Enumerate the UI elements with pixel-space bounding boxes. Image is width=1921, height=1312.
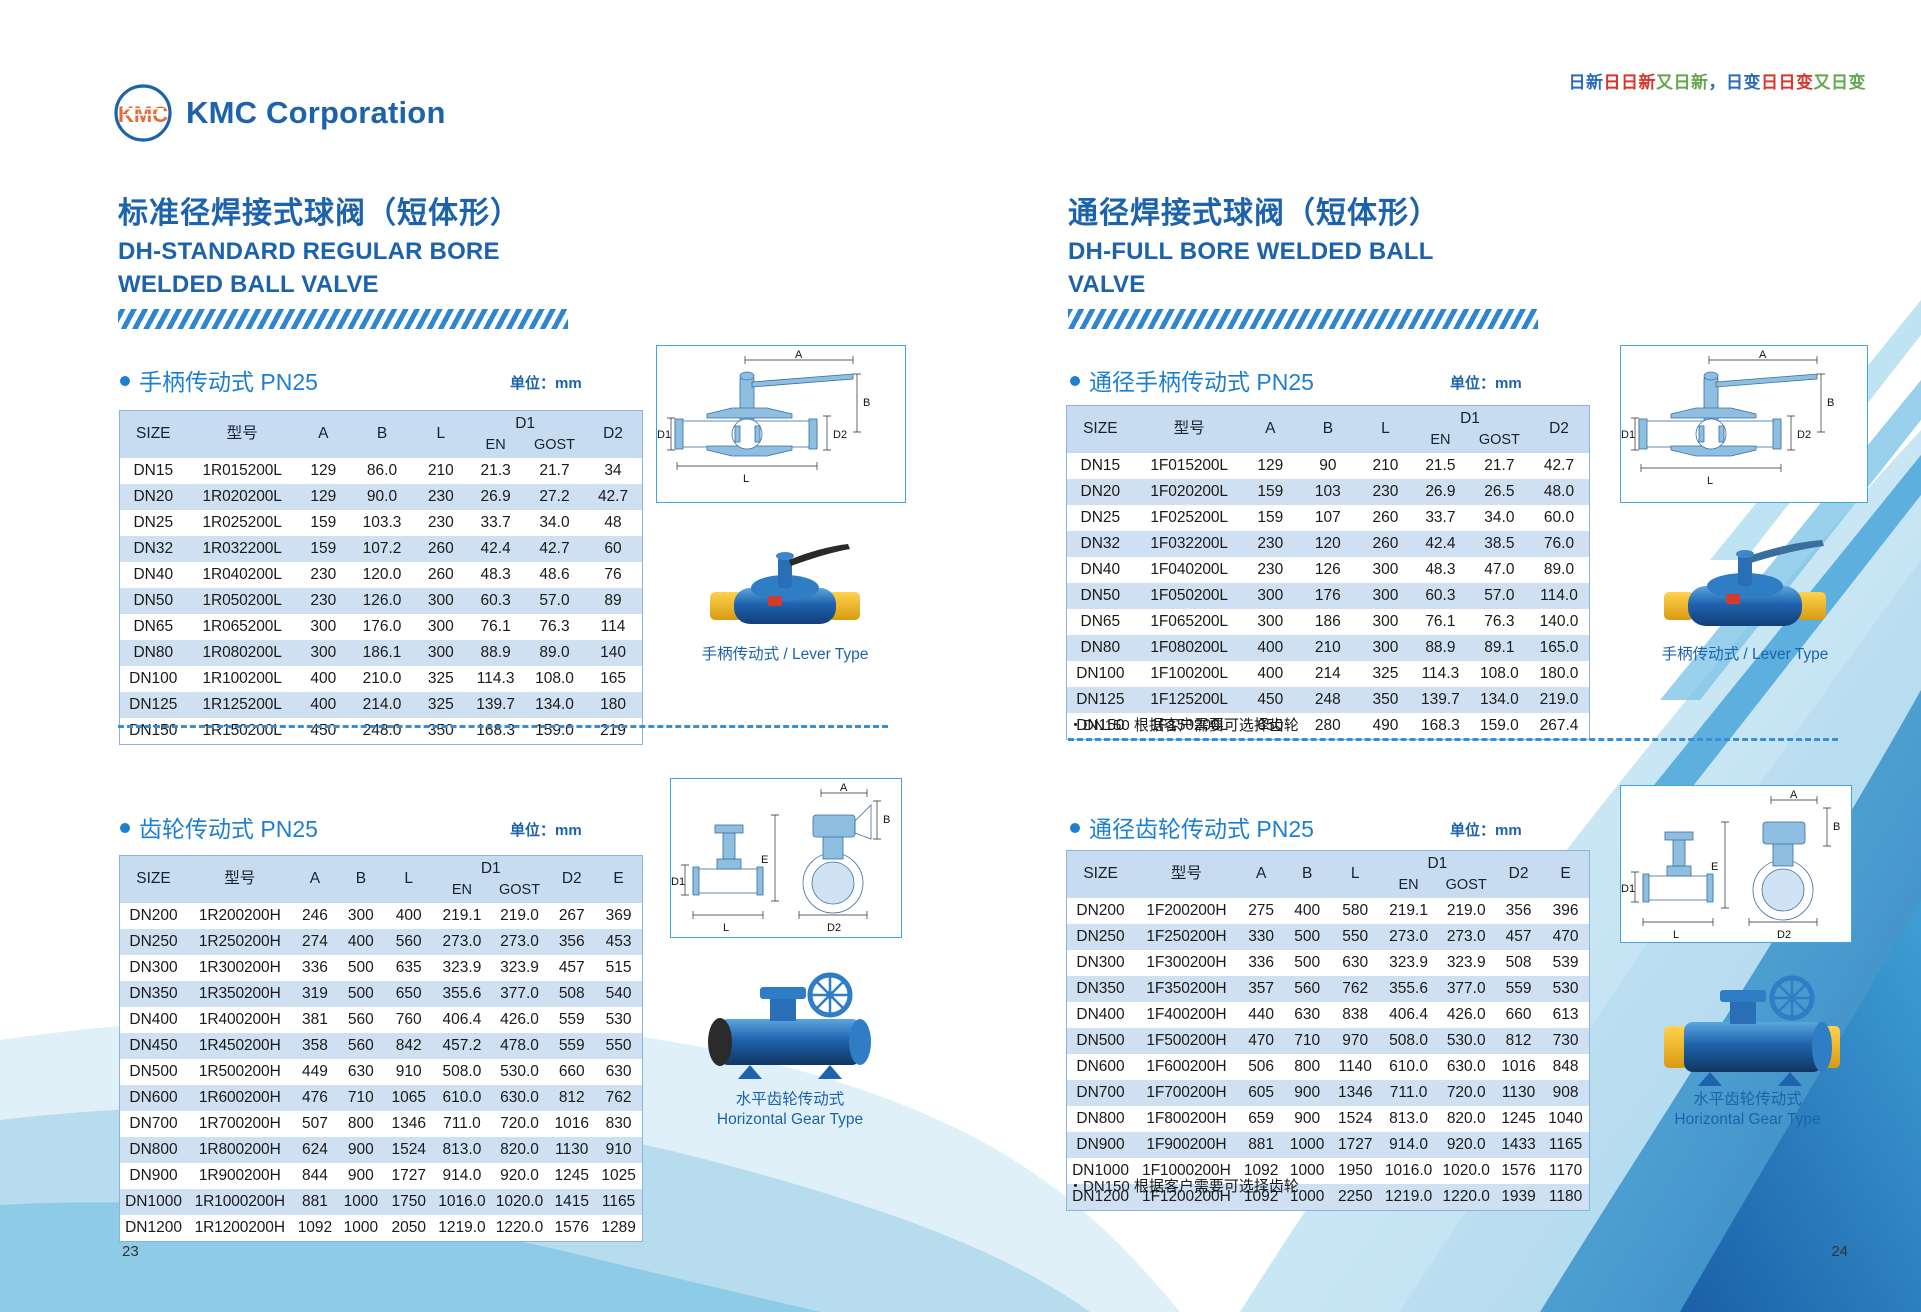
table-row: DN3001F300200H336500630323.9323.9508539 — [1067, 950, 1590, 976]
horizontal-gear-photo-caption: 水平齿轮传动式 Horizontal Gear Type — [660, 1090, 920, 1130]
cell-value: 406.4 — [433, 1007, 491, 1033]
left-heading-en-line1: DH-STANDARD REGULAR BORE — [118, 238, 568, 266]
cell-model: 1F600200H — [1134, 1054, 1239, 1080]
cell-value: 630.0 — [491, 1085, 549, 1111]
cell-value: 914.0 — [433, 1163, 491, 1189]
cell-value: 86.0 — [349, 458, 415, 484]
cell-value: 350 — [415, 718, 466, 745]
cell-value: 114.3 — [466, 666, 525, 692]
cell-size: DN20 — [120, 484, 187, 510]
right-section1-title: 通径手柄传动式 PN25 — [1070, 363, 1314, 397]
cell-value: 214.0 — [349, 692, 415, 718]
cell-value: 1040 — [1542, 1106, 1589, 1132]
cell-value: 330 — [1239, 924, 1284, 950]
cell-value: 630 — [1284, 1002, 1331, 1028]
cell-value: 38.5 — [1470, 531, 1529, 557]
svg-text:D1: D1 — [1621, 883, 1635, 895]
cell-size: DN40 — [1067, 557, 1134, 583]
table-row: DN3501R350200H319500650355.6377.0508540 — [120, 981, 643, 1007]
cell-value: 426.0 — [1437, 1002, 1495, 1028]
cell-size: DN300 — [120, 955, 188, 981]
cell-value: 21.7 — [525, 458, 584, 484]
table-row: DN201R020200L12990.023026.927.242.7 — [120, 484, 643, 510]
cell-value: 1433 — [1495, 1132, 1542, 1158]
cell-model: 1R100200L — [187, 666, 298, 692]
cell-value: 1016.0 — [433, 1189, 491, 1215]
cell-value: 400 — [337, 929, 384, 955]
left-section2-title: 齿轮传动式 PN25 — [120, 810, 318, 844]
cell-value: 356 — [1495, 898, 1542, 924]
cell-value: 508.0 — [433, 1059, 491, 1085]
cell-value: 248 — [1296, 687, 1360, 713]
cell-value: 21.7 — [1470, 453, 1529, 479]
cell-model: 1F125200L — [1134, 687, 1245, 713]
cell-value: 1020.0 — [491, 1189, 549, 1215]
left-heading-cn: 标准径焊接式球阀（短体形） — [118, 196, 568, 233]
cell-size: DN800 — [120, 1137, 188, 1163]
svg-text:B: B — [883, 814, 890, 826]
cell-value: 559 — [1495, 976, 1542, 1002]
cell-value: 300 — [1360, 557, 1411, 583]
svg-text:B: B — [863, 397, 870, 409]
cell-value: 530 — [1542, 976, 1589, 1002]
cell-model: 1R040200L — [187, 562, 298, 588]
cell-value: 134.0 — [525, 692, 584, 718]
cell-size: DN700 — [1067, 1080, 1135, 1106]
cell-size: DN15 — [1067, 453, 1134, 479]
cell-value: 630 — [337, 1059, 384, 1085]
cell-value: 60 — [584, 536, 642, 562]
cell-value: 1245 — [548, 1163, 595, 1189]
svg-text:E: E — [761, 854, 768, 866]
cell-value: 355.6 — [433, 981, 491, 1007]
cell-value: 139.7 — [466, 692, 525, 718]
cell-value: 357 — [1239, 976, 1284, 1002]
cell-model: 1R450200H — [187, 1033, 292, 1059]
cell-value: 400 — [298, 666, 349, 692]
cell-value: 1092 — [292, 1215, 337, 1242]
cell-value: 605 — [1239, 1080, 1284, 1106]
cell-value: 260 — [1360, 531, 1411, 557]
table-row: DN201F020200L15910323026.926.548.0 — [1067, 479, 1590, 505]
cell-value: 323.9 — [433, 955, 491, 981]
cell-value: 710 — [337, 1085, 384, 1111]
svg-text:D2: D2 — [827, 922, 841, 934]
col-header-size: SIZE — [1067, 406, 1134, 453]
cell-model: 1F500200H — [1134, 1028, 1239, 1054]
cell-value: 180.0 — [1529, 661, 1590, 687]
cell-value: 530 — [595, 1007, 642, 1033]
cell-value: 476 — [292, 1085, 337, 1111]
cell-value: 1950 — [1331, 1158, 1380, 1184]
cell-value: 539 — [1542, 950, 1589, 976]
right-page-divider — [1068, 738, 1838, 741]
cell-value: 470 — [1239, 1028, 1284, 1054]
cell-model: 1F300200H — [1134, 950, 1239, 976]
cell-value: 1016 — [548, 1111, 595, 1137]
cell-value: 300 — [337, 903, 384, 929]
table-row: DN5001F500200H470710970508.0530.0812730 — [1067, 1028, 1590, 1054]
col-header-size: SIZE — [120, 856, 188, 903]
cell-value: 180 — [584, 692, 642, 718]
cell-model: 1F015200L — [1134, 453, 1245, 479]
cell-model: 1R150200L — [187, 718, 298, 745]
col-header-d2: D2 — [1529, 406, 1590, 453]
cell-size: DN300 — [1067, 950, 1135, 976]
cell-model: 1R800200H — [187, 1137, 292, 1163]
cell-size: DN32 — [120, 536, 187, 562]
col-header-d2: D2 — [548, 856, 595, 903]
cell-value: 300 — [298, 640, 349, 666]
table-row: DN501F050200L30017630060.357.0114.0 — [1067, 583, 1590, 609]
cell-value: 42.7 — [525, 536, 584, 562]
cell-size: DN1000 — [120, 1189, 188, 1215]
cell-model: 1F400200H — [1134, 1002, 1239, 1028]
cell-value: 57.0 — [525, 588, 584, 614]
cell-value: 1346 — [1331, 1080, 1380, 1106]
col-header-a: A — [292, 856, 337, 903]
svg-text:A: A — [840, 782, 848, 794]
col-subheader-en: EN — [1411, 430, 1470, 453]
table-row: DN9001R900200H8449001727914.0920.0124510… — [120, 1163, 643, 1189]
cell-size: DN50 — [1067, 583, 1134, 609]
cell-value: 1016 — [1495, 1054, 1542, 1080]
cell-value: 813.0 — [433, 1137, 491, 1163]
right-section2-title: 通径齿轮传动式 PN25 — [1070, 810, 1314, 844]
cell-value: 659 — [1239, 1106, 1284, 1132]
cell-value: 108.0 — [525, 666, 584, 692]
left-heading-hatch-bar — [118, 309, 568, 329]
cell-value: 908 — [1542, 1080, 1589, 1106]
cell-value: 515 — [595, 955, 642, 981]
cell-value: 358 — [292, 1033, 337, 1059]
cell-value: 336 — [1239, 950, 1284, 976]
cell-value: 126.0 — [349, 588, 415, 614]
cell-value: 559 — [548, 1033, 595, 1059]
cell-value: 630 — [595, 1059, 642, 1085]
col-header-d1: D1 — [1380, 851, 1495, 876]
cell-value: 230 — [1360, 479, 1411, 505]
cell-value: 120 — [1296, 531, 1360, 557]
svg-text:B: B — [1833, 821, 1840, 833]
cell-value: 508.0 — [1380, 1028, 1438, 1054]
cell-value: 820.0 — [1437, 1106, 1495, 1132]
cell-model: 1R600200H — [187, 1085, 292, 1111]
left-section2-title-text: 齿轮传动式 PN25 — [139, 810, 318, 844]
cell-value: 219.0 — [491, 903, 549, 929]
cell-value: 396 — [1542, 898, 1589, 924]
cell-value: 560 — [337, 1007, 384, 1033]
cell-value: 369 — [595, 903, 642, 929]
cell-size: DN200 — [120, 903, 188, 929]
cell-value: 470 — [1542, 924, 1589, 950]
svg-text:L: L — [743, 473, 749, 485]
cell-value: 2050 — [384, 1215, 433, 1242]
cell-value: 355.6 — [1380, 976, 1438, 1002]
cell-value: 500 — [1284, 950, 1331, 976]
cell-size: DN350 — [120, 981, 188, 1007]
catalog-page: 日新日日新又日新，日变日日变又日变 KMC KMC Corporation 标准… — [0, 0, 1921, 1312]
right-page-number: 24 — [1831, 1243, 1848, 1260]
cell-value: 26.9 — [1411, 479, 1470, 505]
col-subheader-gost: GOST — [491, 880, 549, 903]
cell-model: 1F350200H — [1134, 976, 1239, 1002]
right-section2-note: ・DN150 根据客户需要可选择齿轮 — [1068, 1175, 1299, 1196]
left-section-heading: 标准径焊接式球阀（短体形） DH-STANDARD REGULAR BORE W… — [118, 196, 568, 329]
right-heading-en-line2: VALVE — [1068, 271, 1538, 299]
cell-value: 1016.0 — [1380, 1158, 1438, 1184]
col-header-a: A — [1245, 406, 1296, 453]
cell-value: 1130 — [548, 1137, 595, 1163]
left-heading-en-line2: WELDED BALL VALVE — [118, 271, 568, 299]
svg-text:D2: D2 — [833, 429, 847, 441]
cell-size: DN100 — [120, 666, 187, 692]
svg-text:B: B — [1827, 397, 1834, 409]
cell-value: 76.0 — [1529, 531, 1590, 557]
cell-value: 186 — [1296, 609, 1360, 635]
cell-value: 881 — [292, 1189, 337, 1215]
cell-value: 2250 — [1331, 1184, 1380, 1211]
cell-value: 356 — [548, 929, 595, 955]
cell-value: 89.0 — [1529, 557, 1590, 583]
table-row: DN321F032200L23012026042.438.576.0 — [1067, 531, 1590, 557]
col-header-l: L — [1360, 406, 1411, 453]
cell-value: 449 — [292, 1059, 337, 1085]
cell-value: 159 — [298, 536, 349, 562]
col-header-l: L — [415, 411, 466, 458]
table-row: DN6001F600200H5068001140610.0630.0101684… — [1067, 1054, 1590, 1080]
cell-size: DN250 — [120, 929, 188, 955]
cell-value: 300 — [1245, 609, 1296, 635]
cell-value: 129 — [1245, 453, 1296, 479]
table-row: DN1501R150200L450248.0350168.3159.0219 — [120, 718, 643, 745]
cell-value: 48.3 — [466, 562, 525, 588]
cell-value: 60.3 — [466, 588, 525, 614]
col-header-d2: D2 — [1495, 851, 1542, 898]
cell-size: DN20 — [1067, 479, 1134, 505]
cell-value: 450 — [298, 718, 349, 745]
cell-model: 1R125200L — [187, 692, 298, 718]
cell-value: 1170 — [1542, 1158, 1589, 1184]
table-row: DN2001F200200H275400580219.1219.0356396 — [1067, 898, 1590, 924]
cell-value: 377.0 — [1437, 976, 1495, 1002]
cell-value: 57.0 — [1470, 583, 1529, 609]
cell-value: 280 — [1296, 713, 1360, 740]
cell-model: 1F700200H — [1134, 1080, 1239, 1106]
cell-value: 610.0 — [1380, 1054, 1438, 1080]
cell-value: 800 — [337, 1111, 384, 1137]
col-subheader-en: EN — [433, 880, 491, 903]
right-heading-cn: 通径焊接式球阀（短体形） — [1068, 196, 1538, 233]
svg-text:D2: D2 — [1797, 429, 1811, 441]
cell-value: 1727 — [384, 1163, 433, 1189]
lever-type-photo-caption: 手柄传动式 / Lever Type — [660, 645, 910, 665]
cell-value: 710 — [1284, 1028, 1331, 1054]
cell-value: 1165 — [595, 1189, 642, 1215]
full-bore-lever-dimension-drawing: AB D2D1 L — [1620, 345, 1868, 503]
cell-value: 325 — [1360, 661, 1411, 687]
cell-value: 27.2 — [525, 484, 584, 510]
svg-text:L: L — [1707, 475, 1713, 487]
col-header-b: B — [337, 856, 384, 903]
col-header-d1: D1 — [433, 856, 548, 881]
cell-value: 168.3 — [1411, 713, 1470, 740]
cell-value: 300 — [1360, 635, 1411, 661]
cell-value: 559 — [548, 1007, 595, 1033]
right-section1-note: ・DN150 根据客户需要可选择齿轮 — [1068, 714, 1299, 735]
cell-value: 219.0 — [1437, 898, 1495, 924]
table-row: DN151R015200L12986.021021.321.734 — [120, 458, 643, 484]
cell-value: 114.3 — [1411, 661, 1470, 687]
cell-value: 33.7 — [1411, 505, 1470, 531]
horizontal-gear-caption-en: Horizontal Gear Type — [660, 1110, 920, 1130]
cell-value: 900 — [337, 1163, 384, 1189]
cell-value: 881 — [1239, 1132, 1284, 1158]
cell-size: DN450 — [120, 1033, 188, 1059]
cell-model: 1F032200L — [1134, 531, 1245, 557]
cell-size: DN125 — [120, 692, 187, 718]
cell-value: 478.0 — [491, 1033, 549, 1059]
table-row: DN4001F400200H440630838406.4426.0660613 — [1067, 1002, 1590, 1028]
cell-value: 1524 — [1331, 1106, 1380, 1132]
table-row: DN2501R250200H274400560273.0273.0356453 — [120, 929, 643, 955]
cell-value: 159 — [1245, 479, 1296, 505]
cell-value: 33.7 — [466, 510, 525, 536]
table-row: DN9001F900200H88110001727914.0920.014331… — [1067, 1132, 1590, 1158]
cell-value: 560 — [337, 1033, 384, 1059]
cell-value: 830 — [595, 1111, 642, 1137]
table-row: DN1251R125200L400214.0325139.7134.0180 — [120, 692, 643, 718]
cell-value: 1346 — [384, 1111, 433, 1137]
cell-value: 1020.0 — [1437, 1158, 1495, 1184]
table-row: DN801R080200L300186.130088.989.0140 — [120, 640, 643, 666]
cell-value: 507 — [292, 1111, 337, 1137]
cell-value: 1025 — [595, 1163, 642, 1189]
cell-size: DN40 — [120, 562, 187, 588]
cell-value: 230 — [1245, 557, 1296, 583]
cell-model: 1R700200H — [187, 1111, 292, 1137]
cell-size: DN15 — [120, 458, 187, 484]
table-row: DN1001R100200L400210.0325114.3108.0165 — [120, 666, 643, 692]
col-subheader-gost: GOST — [525, 435, 584, 458]
cell-value: 1140 — [1331, 1054, 1380, 1080]
cell-value: 508 — [548, 981, 595, 1007]
cell-model: 1R1200200H — [187, 1215, 292, 1242]
table-row: DN7001F700200H6059001346711.0720.0113090… — [1067, 1080, 1590, 1106]
cell-value: 214 — [1296, 661, 1360, 687]
cell-value: 26.5 — [1470, 479, 1529, 505]
cell-value: 910 — [384, 1059, 433, 1085]
cell-value: 1065 — [384, 1085, 433, 1111]
col-subheader-en: EN — [466, 435, 525, 458]
cell-size: DN25 — [120, 510, 187, 536]
right-heading-hatch-bar — [1068, 309, 1538, 329]
cell-value: 90.0 — [349, 484, 415, 510]
cell-value: 274 — [292, 929, 337, 955]
col-header-size: SIZE — [1067, 851, 1135, 898]
col-header-: 型号 — [187, 856, 292, 903]
cell-size: DN150 — [120, 718, 187, 745]
cell-value: 730 — [1542, 1028, 1589, 1054]
svg-text:D2: D2 — [1777, 929, 1791, 941]
svg-text:D1: D1 — [657, 429, 671, 441]
cell-value: 580 — [1331, 898, 1380, 924]
horizontal-gear-caption-cn: 水平齿轮传动式 — [660, 1090, 920, 1110]
cell-value: 34 — [584, 458, 642, 484]
cell-value: 76.1 — [1411, 609, 1470, 635]
cell-value: 500 — [1284, 924, 1331, 950]
cell-value: 129 — [298, 458, 349, 484]
cell-value: 406.4 — [1380, 1002, 1438, 1028]
cell-value: 720.0 — [491, 1111, 549, 1137]
cell-value: 844 — [292, 1163, 337, 1189]
cell-value: 60.0 — [1529, 505, 1590, 531]
cell-value: 350 — [1360, 687, 1411, 713]
full-bore-lever-photo-caption: 手柄传动式 / Lever Type — [1615, 645, 1875, 665]
cell-size: DN1200 — [120, 1215, 188, 1242]
cell-value: 176 — [1296, 583, 1360, 609]
cell-model: 1R080200L — [187, 640, 298, 666]
table-row: DN12001R1200200H1092100020501219.01220.0… — [120, 1215, 643, 1242]
cell-value: 325 — [415, 666, 466, 692]
cell-value: 400 — [1245, 661, 1296, 687]
table-row: DN651R065200L300176.030076.176.3114 — [120, 614, 643, 640]
cell-size: DN600 — [1067, 1054, 1135, 1080]
cell-value: 540 — [595, 981, 642, 1007]
cell-value: 76 — [584, 562, 642, 588]
cell-value: 920.0 — [491, 1163, 549, 1189]
cell-value: 248.0 — [349, 718, 415, 745]
cell-value: 89.0 — [525, 640, 584, 666]
cell-value: 400 — [298, 692, 349, 718]
cell-model: 1R250200H — [187, 929, 292, 955]
left-section1-title-text: 手柄传动式 PN25 — [139, 363, 318, 397]
cell-value: 900 — [337, 1137, 384, 1163]
table-row: DN2501F250200H330500550273.0273.0457470 — [1067, 924, 1590, 950]
cell-value: 107.2 — [349, 536, 415, 562]
col-header-e: E — [1542, 851, 1589, 898]
cell-model: 1R200200H — [187, 903, 292, 929]
cell-value: 1576 — [1495, 1158, 1542, 1184]
cell-value: 1939 — [1495, 1184, 1542, 1211]
cell-value: 273.0 — [1380, 924, 1438, 950]
cell-value: 560 — [384, 929, 433, 955]
left-page-number: 23 — [122, 1243, 139, 1260]
cell-value: 300 — [415, 614, 466, 640]
col-subheader-gost: GOST — [1437, 875, 1495, 898]
cell-model: 1R500200H — [187, 1059, 292, 1085]
cell-size: DN900 — [1067, 1132, 1135, 1158]
cell-model: 1R020200L — [187, 484, 298, 510]
svg-text:L: L — [723, 922, 729, 934]
cell-value: 267 — [548, 903, 595, 929]
svg-text:A: A — [1759, 349, 1767, 361]
cell-value: 530.0 — [491, 1059, 549, 1085]
cell-value: 42.7 — [584, 484, 642, 510]
cell-value: 635 — [384, 955, 433, 981]
cell-value: 230 — [415, 484, 466, 510]
cell-value: 76.1 — [466, 614, 525, 640]
cell-size: DN700 — [120, 1111, 188, 1137]
col-header-: 型号 — [187, 411, 298, 458]
cell-value: 650 — [384, 981, 433, 1007]
svg-text:A: A — [1790, 789, 1798, 801]
cell-value: 230 — [1245, 531, 1296, 557]
cell-size: DN200 — [1067, 898, 1135, 924]
cell-value: 88.9 — [466, 640, 525, 666]
table-row: DN8001F800200H6599001524813.0820.0124510… — [1067, 1106, 1590, 1132]
table-row: DN1251F125200L450248350139.7134.0219.0 — [1067, 687, 1590, 713]
